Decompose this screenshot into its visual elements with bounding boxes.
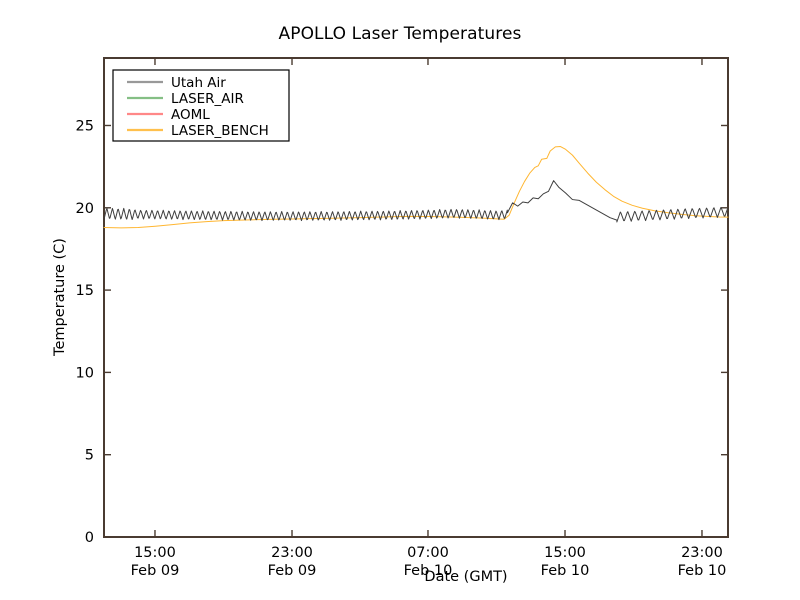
x-axis-title: Date (GMT) xyxy=(424,569,507,585)
matplotlib-figure: APOLLO Laser Temperatures 0510152025 15:… xyxy=(0,0,800,600)
legend-label: LASER_AIR xyxy=(171,91,244,107)
x-tick-label-time: 15:00 xyxy=(544,545,586,561)
x-tick-label-date: Feb 09 xyxy=(268,563,317,579)
x-tick-label-date: Feb 10 xyxy=(541,563,590,579)
x-tick-label-date: Feb 09 xyxy=(131,563,180,579)
y-axis-ticks: 0510152025 xyxy=(76,118,728,546)
y-tick-label: 15 xyxy=(76,283,94,299)
plot-canvas: 0510152025 15:00Feb 0923:00Feb 0907:00Fe… xyxy=(0,0,800,600)
x-tick-label-time: 07:00 xyxy=(407,545,449,561)
legend-label: AOML xyxy=(171,107,210,123)
y-tick-label: 20 xyxy=(76,201,94,217)
y-tick-label: 0 xyxy=(85,530,94,546)
legend-label: Utah Air xyxy=(171,75,226,91)
y-axis-title: Temperature (C) xyxy=(52,238,68,357)
x-tick-label-date: Feb 10 xyxy=(678,563,727,579)
data-series-group xyxy=(104,147,728,228)
y-tick-label: 5 xyxy=(85,448,94,464)
y-tick-label: 25 xyxy=(76,118,94,134)
legend[interactable]: Utah AirLASER_AIRAOMLLASER_BENCH xyxy=(113,70,289,141)
series-line-laser-bench xyxy=(104,147,728,228)
legend-label: LASER_BENCH xyxy=(171,123,269,139)
x-tick-label-time: 23:00 xyxy=(681,545,723,561)
x-tick-label-time: 23:00 xyxy=(271,545,313,561)
x-tick-label-time: 15:00 xyxy=(134,545,176,561)
y-tick-label: 10 xyxy=(76,365,94,381)
series-line-utah-air xyxy=(104,181,728,222)
